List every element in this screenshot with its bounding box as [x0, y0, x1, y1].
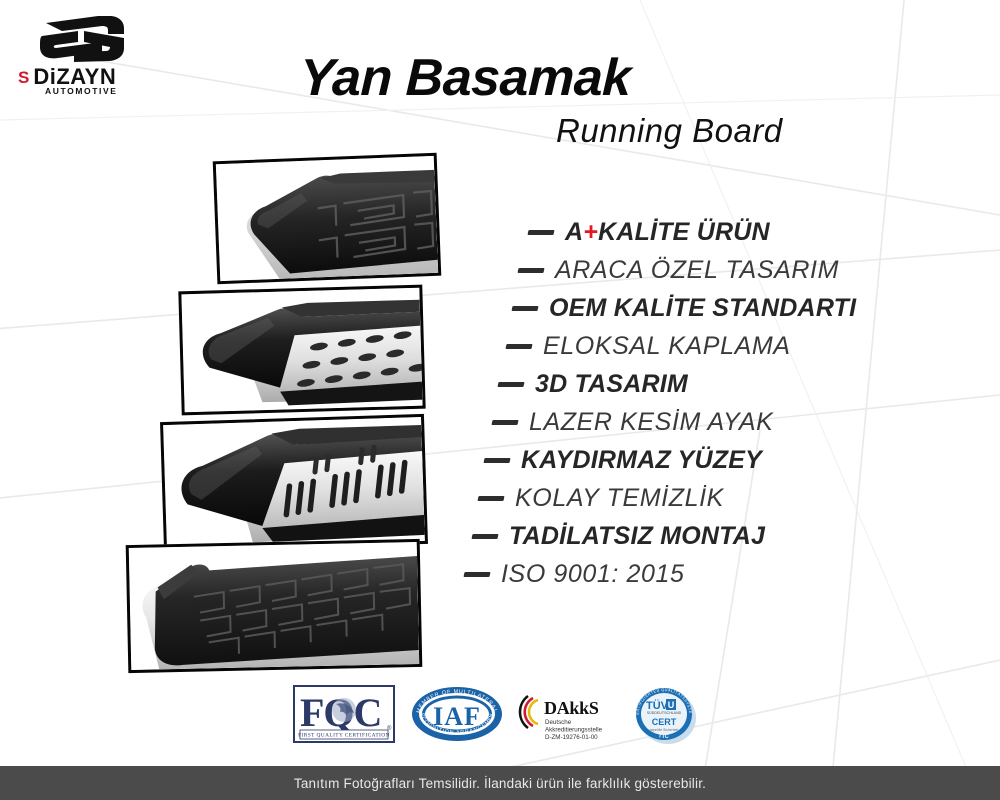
feature-item-3: OEM KALİTE STANDARTI [512, 294, 856, 323]
page-title: Yan Basamak [299, 52, 721, 104]
feature-item-1: A+KALİTE ÜRÜN [528, 218, 770, 247]
dash-marker-icon [471, 534, 498, 539]
feature-item-6: LAZER KESİM AYAK [492, 408, 773, 437]
product-image-1 [213, 153, 442, 285]
feature-label-5: 3D TASARIM [535, 370, 688, 399]
brand-name: DiZAYN [33, 66, 116, 88]
dash-marker-icon [491, 420, 518, 425]
feature-label-8: KOLAY TEMİZLİK [515, 484, 724, 513]
dakks-line2: Akkreditierungsstelle [545, 727, 603, 734]
plus-highlight: + [583, 218, 598, 246]
poster-canvas: S DiZAYN AUTOMOTIVE Yan Basamak Running … [0, 0, 1000, 800]
dash-marker-icon [527, 230, 554, 235]
fqc-badge: FQC ® FIRST QUALITY CERTIFICATION [292, 684, 396, 746]
feature-label-10: ISO 9001: 2015 [501, 560, 685, 589]
tuv-sub: SÜDDEUTSCHLAND [647, 711, 682, 715]
svg-text:TIC: TIC [658, 733, 670, 740]
feature-label-7: KAYDIRMAZ YÜZEY [521, 446, 762, 475]
dash-marker-icon [497, 382, 524, 387]
dakks-badge: DAkkS Deutsche Akkreditierungsstelle D-Z… [518, 684, 618, 746]
svg-text:geprüfte Sicherheit: geprüfte Sicherheit [650, 728, 679, 732]
dash-marker-icon [483, 458, 510, 463]
brand-wordmark: S DiZAYN [18, 66, 116, 88]
feature-item-4: ELOKSAL KAPLAMA [506, 332, 791, 361]
feature-item-2: ARACA ÖZEL TASARIM [518, 256, 839, 285]
feature-item-10: ISO 9001: 2015 [464, 560, 685, 589]
brand-s-letter: S [18, 69, 28, 86]
brand-tagline: AUTOMOTIVE [45, 86, 118, 96]
page-subtitle: Running Board [556, 114, 783, 147]
feature-label-1: A+KALİTE ÜRÜN [565, 218, 770, 247]
footer-bar: Tanıtım Fotoğrafları Temsilidir. İlandak… [0, 766, 1000, 800]
dakks-line3: D-ZM-19276-01-00 [545, 734, 598, 741]
feature-item-8: KOLAY TEMİZLİK [478, 484, 724, 513]
feature-label-6: LAZER KESİM AYAK [529, 408, 773, 437]
feature-label-2: ARACA ÖZEL TASARIM [555, 256, 839, 285]
s-dizayn-logomark-icon [40, 14, 126, 64]
dash-marker-icon [517, 268, 544, 273]
feature-label-9: TADİLATSIZ MONTAJ [509, 522, 765, 551]
feature-item-7: KAYDIRMAZ YÜZEY [484, 446, 762, 475]
dakks-line1: Deutsche [545, 719, 572, 726]
fqc-caption: FIRST QUALITY CERTIFICATION [298, 733, 390, 739]
feature-list: A+KALİTE ÜRÜN ARACA ÖZEL TASARIM OEM KAL… [440, 218, 910, 598]
brand-logo: S DiZAYN AUTOMOTIVE [18, 14, 168, 96]
feature-label-3: OEM KALİTE STANDARTI [549, 294, 856, 323]
dash-marker-icon [505, 344, 532, 349]
product-image-2 [178, 285, 425, 416]
feature-label-4: ELOKSAL KAPLAMA [543, 332, 791, 361]
svg-text:U: U [668, 700, 675, 710]
svg-text:DAkkS: DAkkS [544, 698, 599, 718]
tuv-cert-text: CERT [652, 717, 677, 727]
tuv-cert-badge: ZERTIFIZIERTES QUALITÄTSSYSTEM TIC TÜV U… [632, 684, 700, 746]
dash-marker-icon [511, 306, 538, 311]
dash-marker-icon [477, 496, 504, 501]
certification-badges: FQC ® FIRST QUALITY CERTIFICATION IAF [292, 682, 708, 748]
iaf-badge: IAF MEMBER OF MULTILATERAL RECOGNITION A… [410, 684, 504, 746]
tuv-bottom-text: TIC [658, 733, 670, 740]
product-image-4 [126, 539, 423, 673]
product-image-3 [160, 414, 428, 552]
feature-item-9: TADİLATSIZ MONTAJ [472, 522, 765, 551]
feature-item-5: 3D TASARIM [498, 370, 688, 399]
dash-marker-icon [463, 572, 490, 577]
svg-text:IAF: IAF [433, 702, 481, 731]
footer-disclaimer: Tanıtım Fotoğrafları Temsilidir. İlandak… [294, 776, 706, 791]
